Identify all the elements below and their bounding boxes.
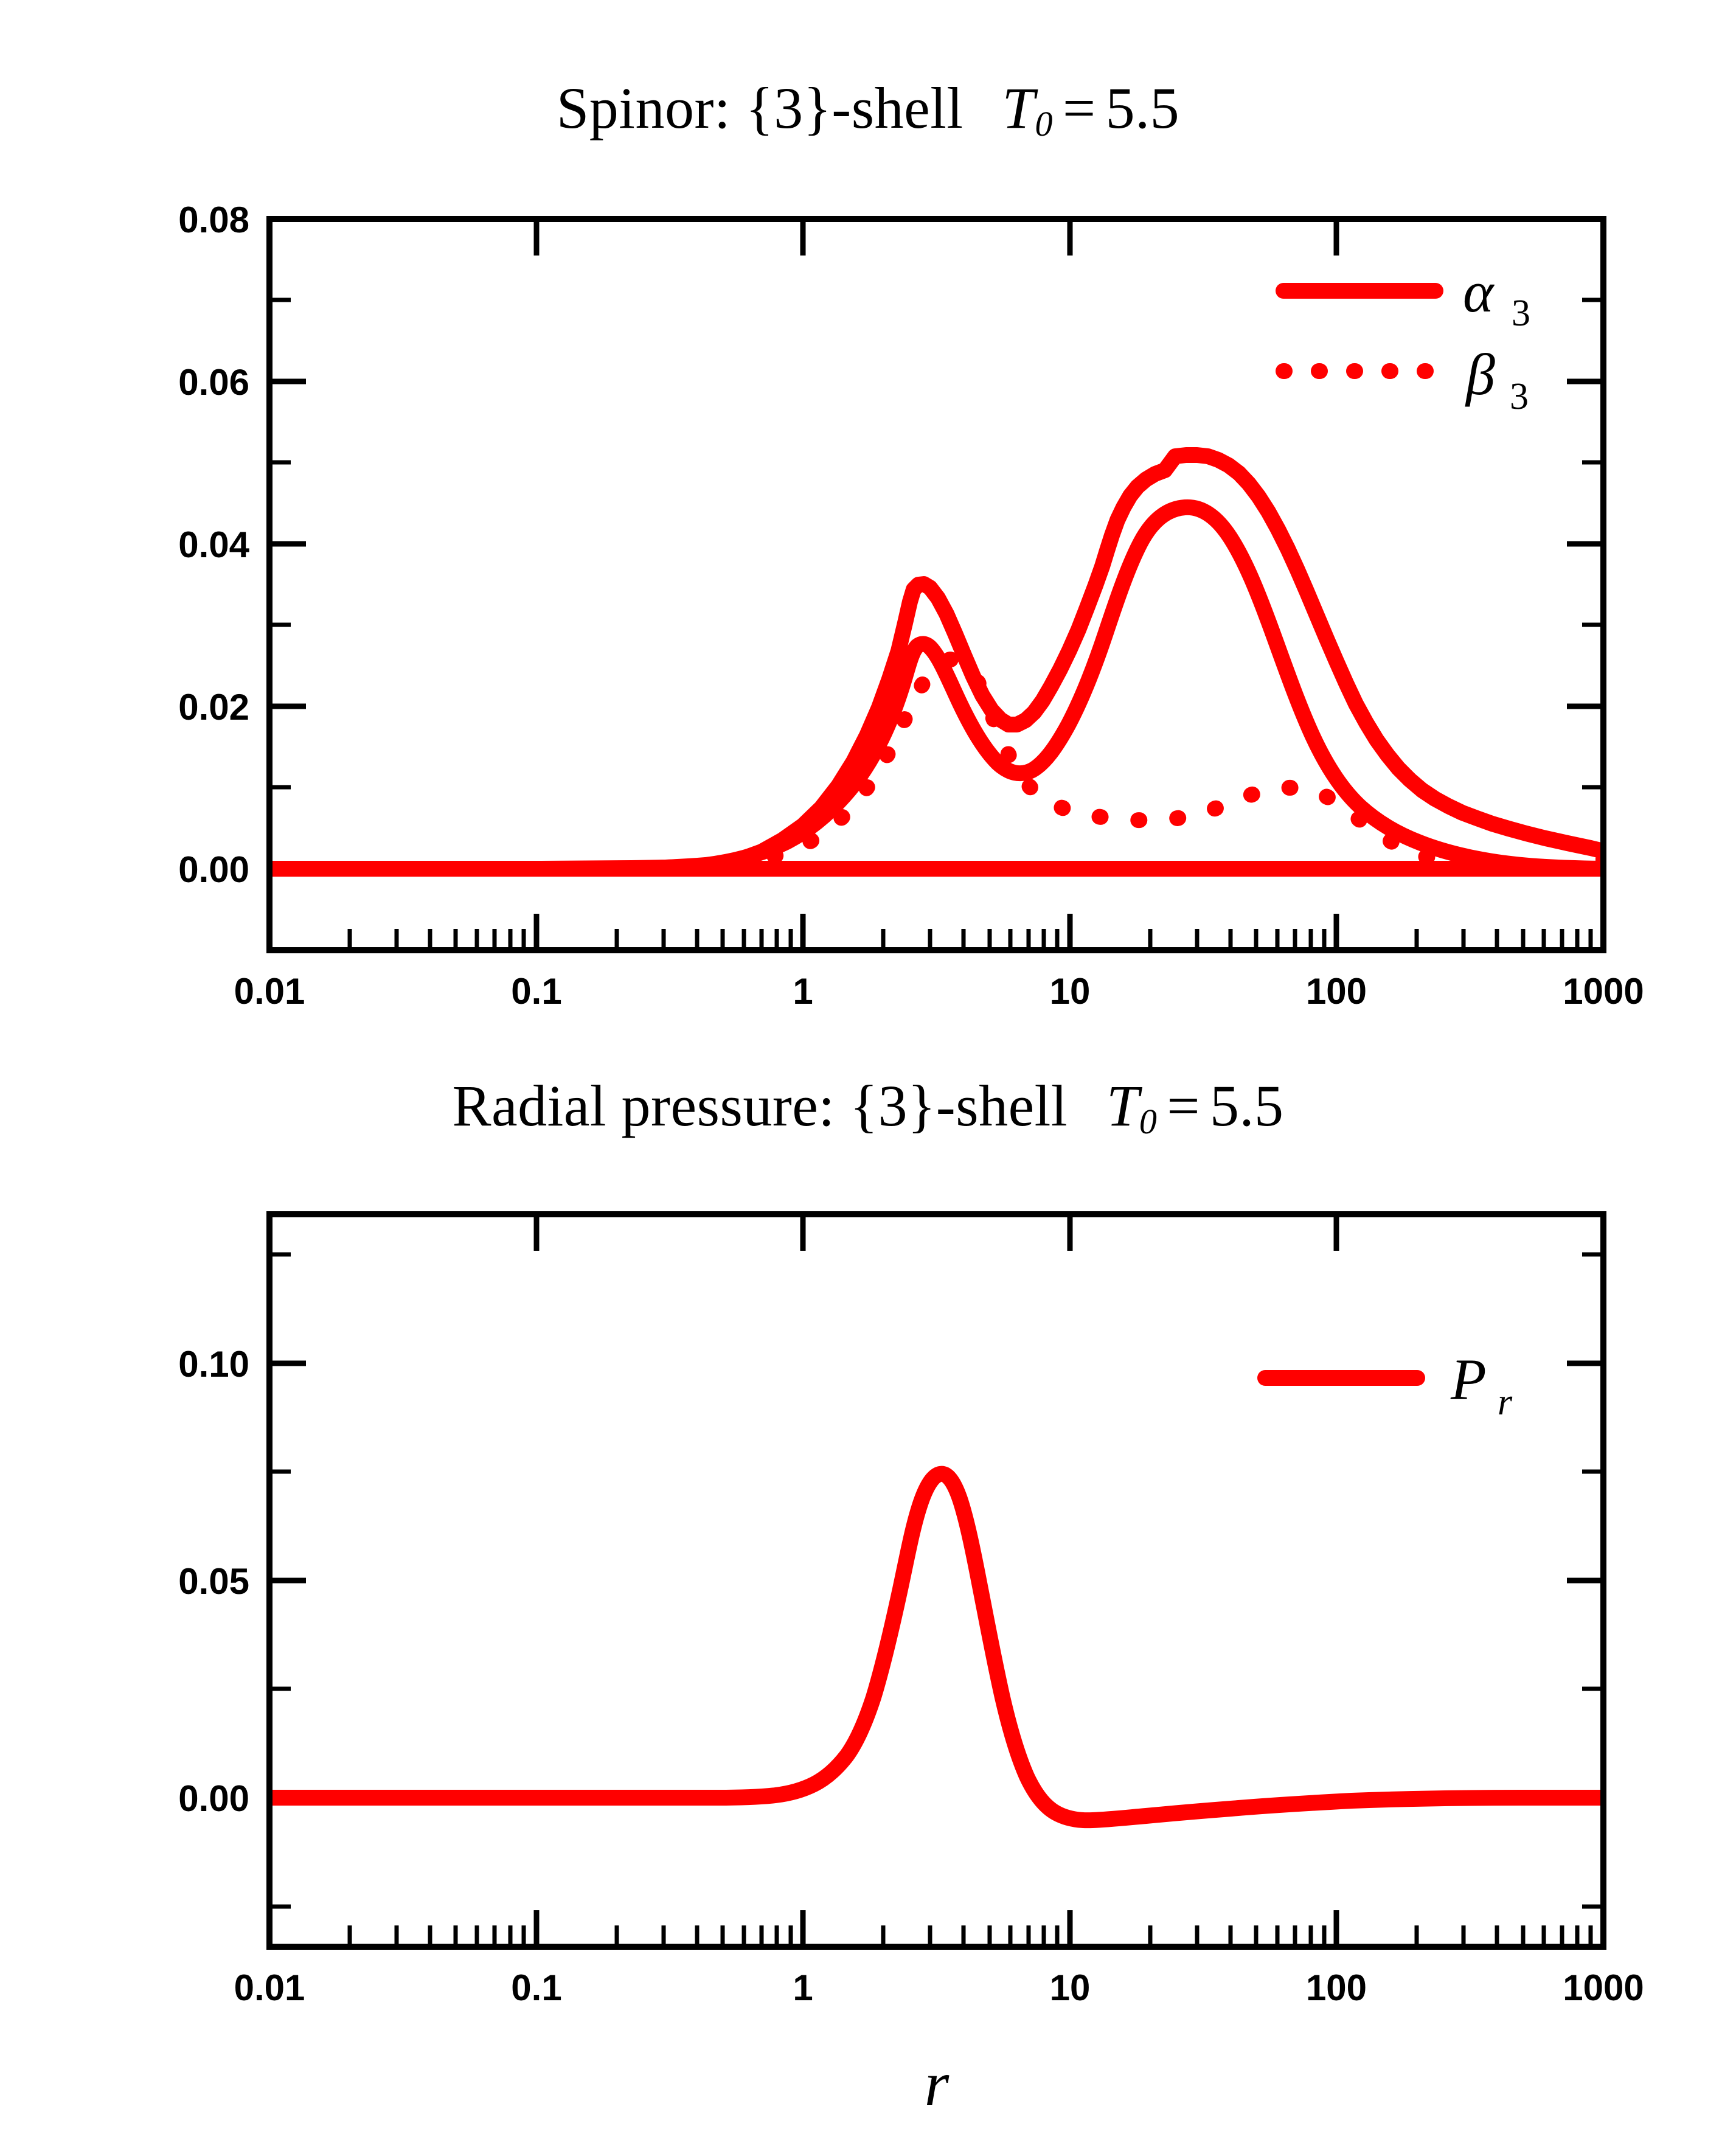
panel-top-ytick-2: 0.04 xyxy=(178,524,249,565)
panel-bottom-xtick-2: 1 xyxy=(793,1967,813,2008)
panel-radial-pressure: Radial pressure: {3}-shellT0=5.5 xyxy=(0,1034,1736,2156)
panel-bottom-xtick-1: 0.1 xyxy=(511,1967,561,2008)
panel-top-ytick-1: 0.02 xyxy=(178,687,249,728)
panel-bottom-y-major-ticks xyxy=(269,1363,306,1798)
panel-top-xtick-1: 0.1 xyxy=(511,971,561,1012)
series-alpha3-line xyxy=(269,507,1603,869)
series-pr-line xyxy=(269,1474,1603,1821)
panel-top-ytick-3: 0.06 xyxy=(178,362,249,403)
panel-top-y-right-ticks xyxy=(1567,300,1603,869)
panel-bottom-title-value: 5.5 xyxy=(1210,1073,1284,1138)
panel-top-title-symbol-sub: 0 xyxy=(1035,104,1053,144)
panel-top-plot: 0.00 0.02 0.04 0.06 0.08 xyxy=(0,0,1736,1071)
figure-root: Spinor: {3}-shellT0=5.5 xyxy=(0,0,1736,2156)
panel-bottom-title-equals: = xyxy=(1167,1073,1200,1138)
panel-top-x-top-ticks xyxy=(536,219,1336,256)
panel-bottom-ytick-0: 0.00 xyxy=(178,1778,249,1819)
panel-bottom-ytick-1: 0.05 xyxy=(178,1561,249,1602)
panel-bottom-frame xyxy=(269,1214,1603,1947)
panel-top-title: Spinor: {3}-shellT0=5.5 xyxy=(0,79,1736,142)
panel-top-x-major-ticks xyxy=(269,914,1603,950)
panel-bottom-title-main: Radial pressure: {3}-shell xyxy=(452,1073,1068,1138)
panel-top-title-main: Spinor: {3}-shell xyxy=(557,75,963,141)
panel-top-title-value: 5.5 xyxy=(1106,75,1180,141)
panel-bottom-xaxis-title: r xyxy=(925,2049,950,2119)
legend-label-pr-sub: r xyxy=(1498,1382,1513,1423)
legend-label-beta3-sub: 3 xyxy=(1510,376,1529,417)
panel-top-title-symbol: T xyxy=(1002,75,1035,141)
panel-top-xtick-2: 1 xyxy=(793,971,813,1012)
panel-top-legend: α 3 β 3 xyxy=(1283,259,1530,417)
panel-bottom-title-symbol: T xyxy=(1106,1073,1139,1138)
panel-bottom-x-major-ticks xyxy=(269,1214,1603,1947)
panel-bottom-plot: 0.00 0.05 0.10 xyxy=(0,1034,1736,2156)
panel-top-ytick-4: 0.08 xyxy=(178,200,249,240)
panel-bottom-xtick-5: 1000 xyxy=(1563,1967,1644,2008)
panel-bottom-xtick-0: 0.01 xyxy=(234,1967,305,2008)
panel-top-xtick-4: 100 xyxy=(1306,971,1367,1012)
panel-bottom-title-symbol-sub: 0 xyxy=(1139,1102,1158,1141)
panel-top-xtick-5: 1000 xyxy=(1563,971,1644,1012)
panel-top-y-major-ticks xyxy=(269,219,306,869)
legend-label-alpha3-sub: 3 xyxy=(1512,293,1530,334)
panel-bottom-legend: P r xyxy=(1265,1347,1513,1423)
panel-bottom-xtick-3: 10 xyxy=(1050,1967,1091,2008)
legend-label-pr: P xyxy=(1450,1347,1487,1412)
legend-label-alpha3: α xyxy=(1463,259,1495,324)
panel-bottom-ytick-2: 0.10 xyxy=(178,1344,249,1385)
panel-bottom-title: Radial pressure: {3}-shellT0=5.5 xyxy=(0,1077,1736,1139)
panel-spinor: Spinor: {3}-shellT0=5.5 xyxy=(0,0,1736,1071)
panel-top-xtick-0: 0.01 xyxy=(234,971,305,1012)
panel-bottom-xtick-4: 100 xyxy=(1306,1967,1367,2008)
panel-top-xtick-3: 10 xyxy=(1050,971,1091,1012)
panel-top-title-equals: = xyxy=(1063,75,1096,141)
panel-bottom-y-right-ticks xyxy=(1567,1254,1603,1907)
panel-top-ytick-0: 0.00 xyxy=(178,849,249,890)
legend-label-beta3: β xyxy=(1465,342,1495,407)
